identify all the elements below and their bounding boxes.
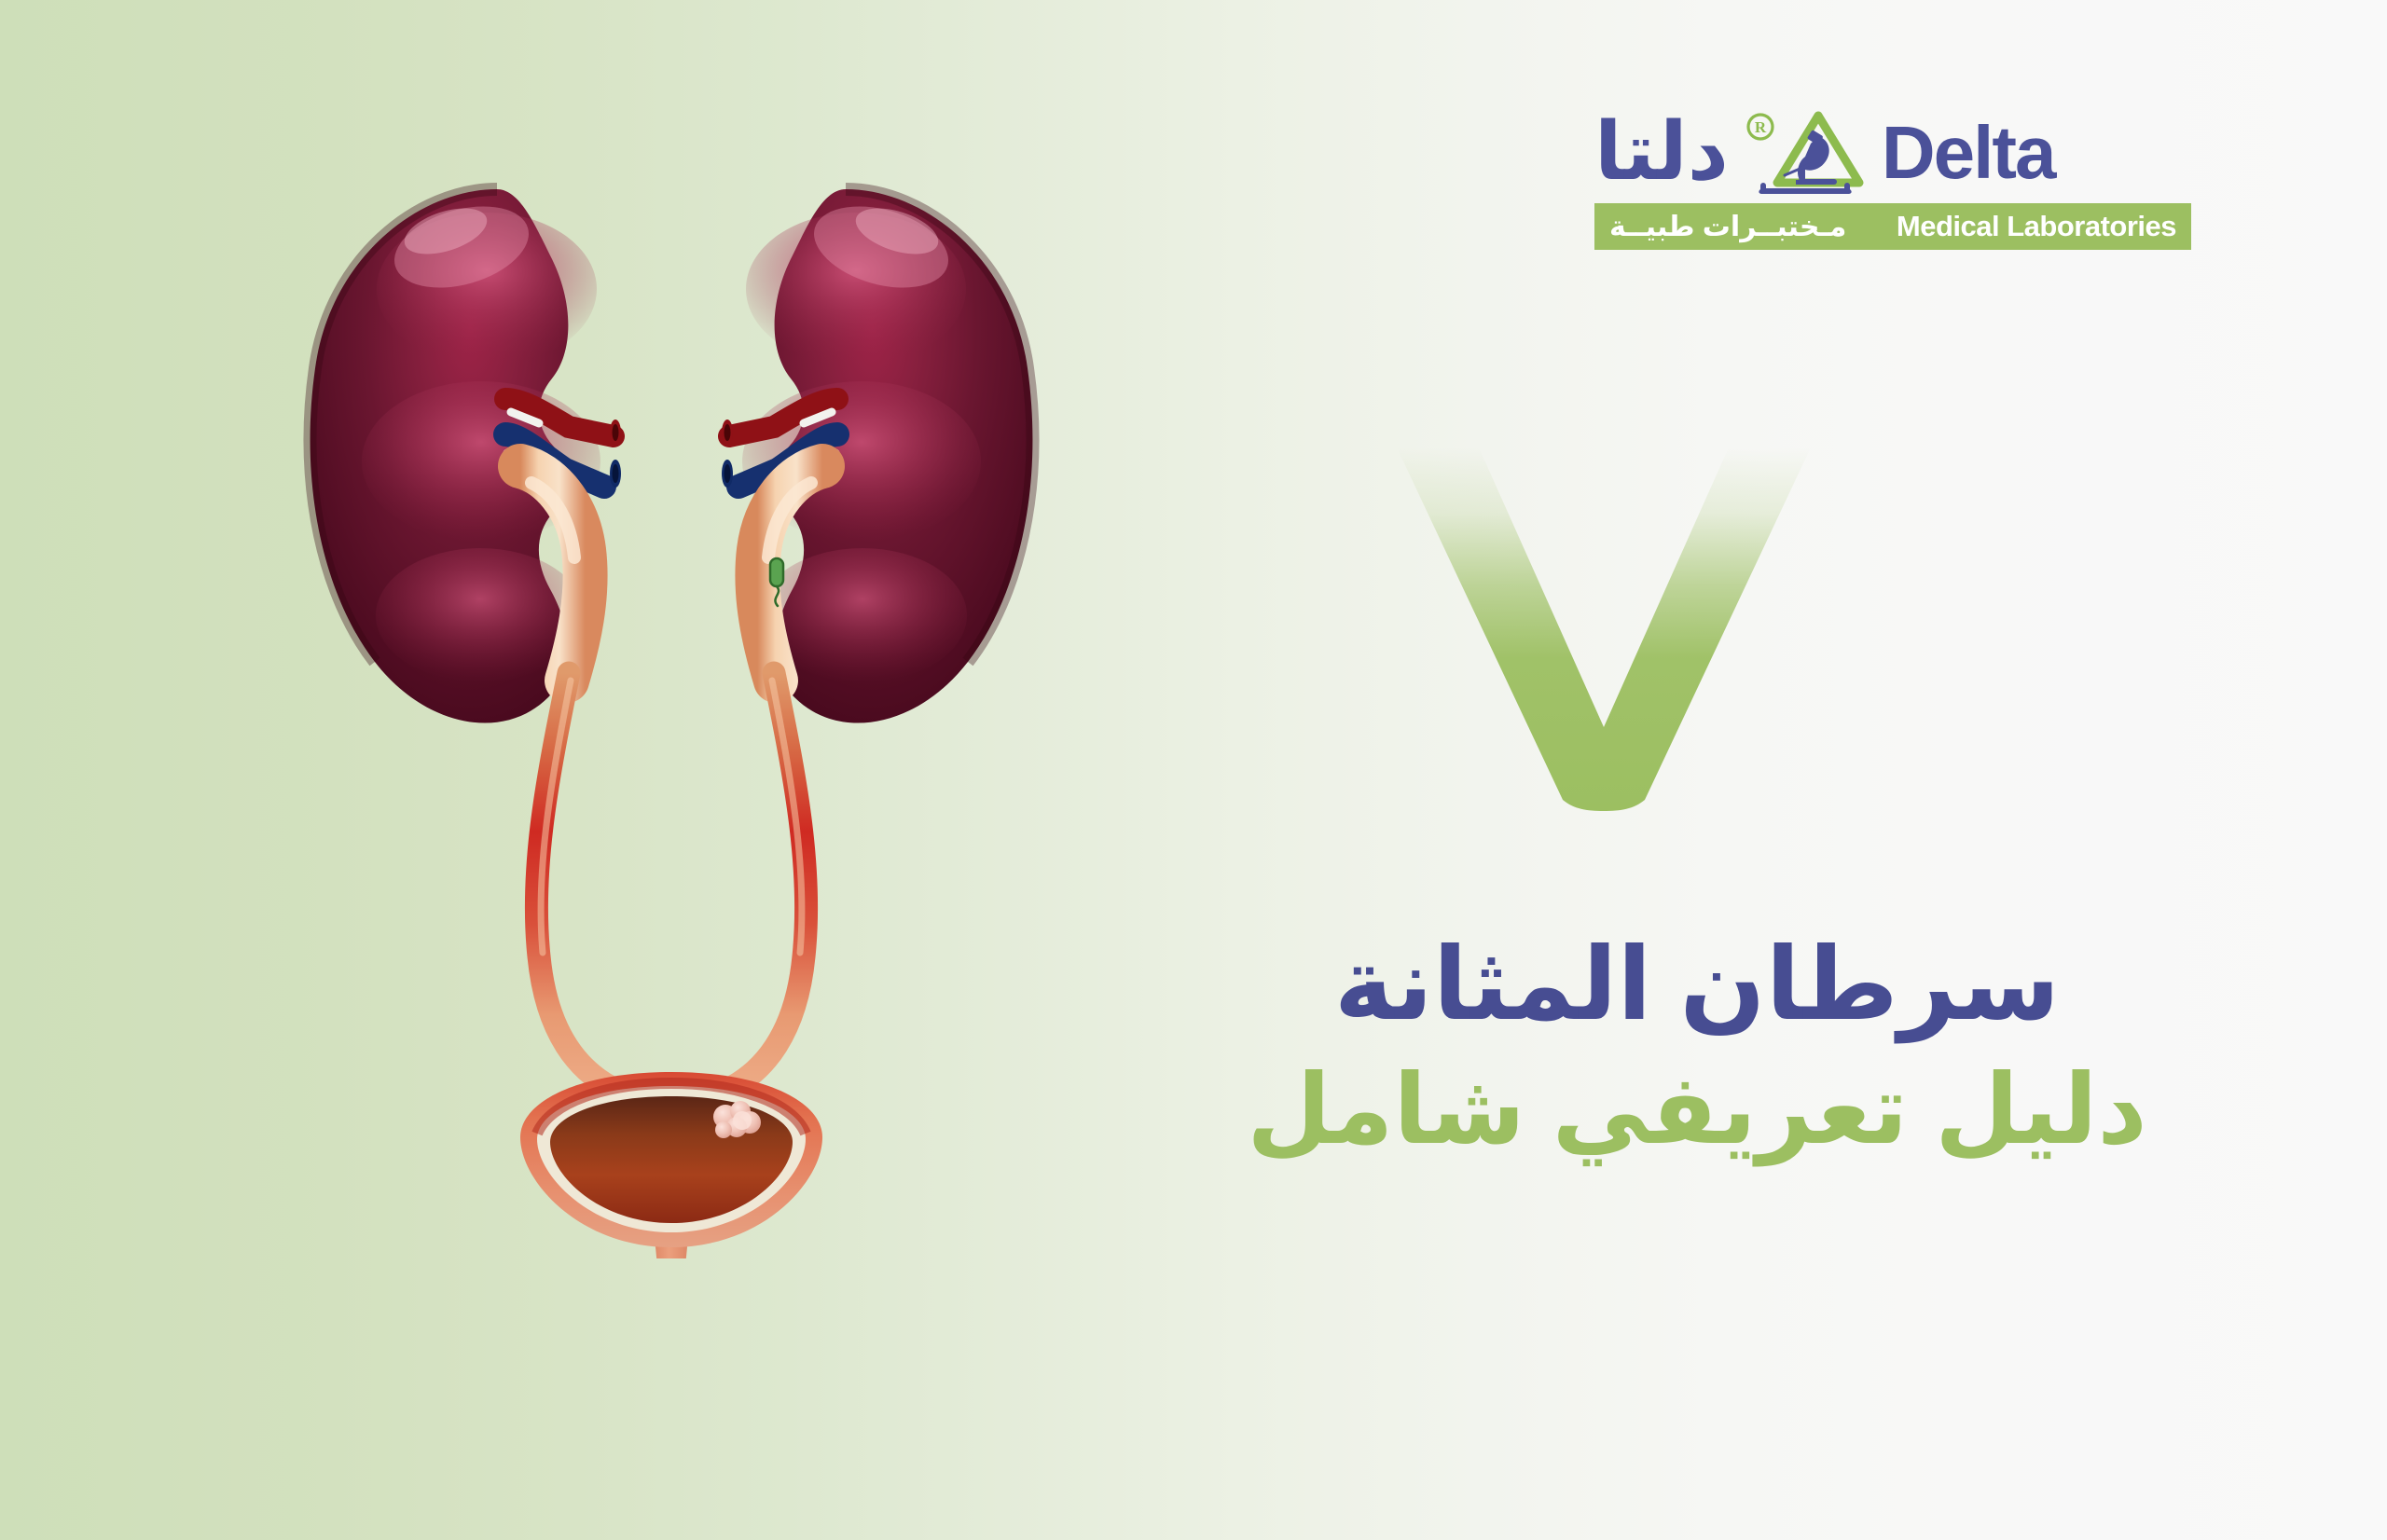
urinary-system-illustration <box>270 158 1072 1258</box>
brand-name-english: Delta <box>1882 117 2055 188</box>
microscope-triangle-icon: R <box>1744 108 1867 198</box>
right-content-column: دلتا R <box>1147 0 2228 1540</box>
logo-wordmark-row: دلتا R <box>1594 110 2191 196</box>
svg-text:R: R <box>1755 118 1767 136</box>
brand-tagline-arabic: مـختبــرات طبيــة <box>1609 211 1846 243</box>
bladder-group <box>520 1072 822 1258</box>
brand-name-arabic: دلتا <box>1594 115 1729 191</box>
brand-tagline-english: Medical Laboratories <box>1897 210 2176 243</box>
headline-block: سرطان المثانة دليل تعريفي شامل <box>1203 923 2191 1170</box>
page-title: سرطان المثانة <box>1203 923 2191 1046</box>
page-subtitle: دليل تعريفي شامل <box>1203 1052 2191 1170</box>
v-chevron-icon <box>1380 447 1828 811</box>
brand-logo[interactable]: دلتا R <box>1594 110 2191 250</box>
registered-trademark-icon: R <box>1748 115 1773 139</box>
poster-canvas: دلتا R <box>0 0 2387 1540</box>
brand-tagline-bar: مـختبــرات طبيــة Medical Laboratories <box>1594 203 2191 250</box>
